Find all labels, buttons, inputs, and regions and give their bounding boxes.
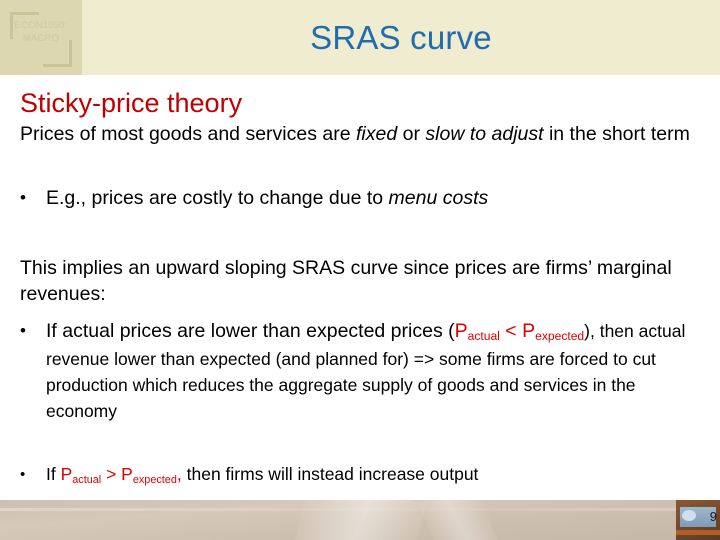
slide-content: Sticky-price theory Prices of most goods…: [0, 75, 720, 500]
paragraph-prices-fixed: Prices of most goods and services are fi…: [20, 121, 696, 147]
bullet-marker-icon: •: [20, 318, 46, 344]
list-item-prices-lower: • If actual prices are lower than expect…: [20, 318, 696, 424]
symbol-p-expected: Pexpected: [522, 320, 584, 342]
symbol-p-expected-subscript: expected: [535, 329, 584, 343]
logo-text: ECON1050: MACRO: [0, 19, 82, 45]
symbol-p-expected-base: P: [522, 320, 535, 342]
list-item-prices-higher-text: If Pactual > Pexpected, then firms will …: [46, 463, 696, 490]
list-item-menu-costs-emphasis: menu costs: [389, 187, 489, 209]
paragraph-prices-part1: Prices of most goods and services are: [20, 123, 356, 145]
paragraph-prices-emphasis-slow-to-adjust: slow to adjust: [425, 123, 543, 145]
slide-footer-band: [0, 500, 720, 540]
corner-thumbnail-image: 9: [676, 500, 720, 540]
bullet-marker-icon: •: [20, 463, 46, 487]
logo-line-course-code: ECON1050:: [0, 19, 82, 32]
symbol-p-actual-base: P: [455, 320, 468, 342]
symbol-p-actual-subscript: actual: [468, 329, 500, 343]
operator-greater-than: >: [101, 464, 121, 484]
paragraph-upward-sloping: This implies an upward sloping SRAS curv…: [20, 255, 696, 307]
thumbnail-highlight-shape: [682, 510, 696, 521]
symbol-p-actual: Pactual: [455, 320, 500, 342]
slide-header-band: ECON1050: MACRO SRAS curve: [0, 0, 720, 75]
list-item-menu-costs-text: E.g., prices are costly to change due to…: [46, 185, 696, 211]
list-item-prices-higher: • If Pactual > Pexpected, then firms wil…: [20, 463, 696, 490]
footer-texture-streak: [294, 500, 426, 540]
symbol-p-actual-subscript: actual: [72, 474, 101, 486]
logo-line-course-name: MACRO: [0, 32, 82, 45]
list-item-prices-higher-part2: then firms will instead increase output: [182, 464, 479, 484]
paragraph-prices-emphasis-fixed: fixed: [356, 123, 397, 145]
bullet-marker-icon: •: [20, 185, 46, 211]
list-item-prices-lower-text: If actual prices are lower than expected…: [46, 318, 696, 424]
slide-title: SRAS curve: [82, 0, 720, 75]
symbol-p-expected-base: P: [121, 464, 133, 484]
operator-less-than: <: [500, 320, 522, 342]
paragraph-prices-part3: in the short term: [544, 123, 690, 145]
list-item-prices-lower-part1: If actual prices are lower than expected…: [46, 320, 455, 342]
symbol-p-expected-subscript: expected: [133, 474, 177, 486]
page-number: 9: [710, 509, 717, 525]
symbol-p-actual: Pactual: [61, 464, 102, 484]
section-heading: Sticky-price theory: [20, 88, 242, 119]
footer-texture-streak: [417, 500, 503, 540]
symbol-p-expected: Pexpected: [121, 464, 177, 484]
slide-canvas: ECON1050: MACRO SRAS curve Sticky-price …: [0, 0, 720, 540]
symbol-p-actual-base: P: [61, 464, 73, 484]
thumbnail-ledge-shape: [676, 530, 720, 535]
paragraph-prices-part2: or: [397, 123, 425, 145]
list-item-prices-higher-part1: If: [46, 464, 61, 484]
list-item-menu-costs: • E.g., prices are costly to change due …: [20, 185, 696, 211]
list-item-menu-costs-part1: E.g., prices are costly to change due to: [46, 187, 389, 209]
course-logo: ECON1050: MACRO: [0, 0, 82, 75]
